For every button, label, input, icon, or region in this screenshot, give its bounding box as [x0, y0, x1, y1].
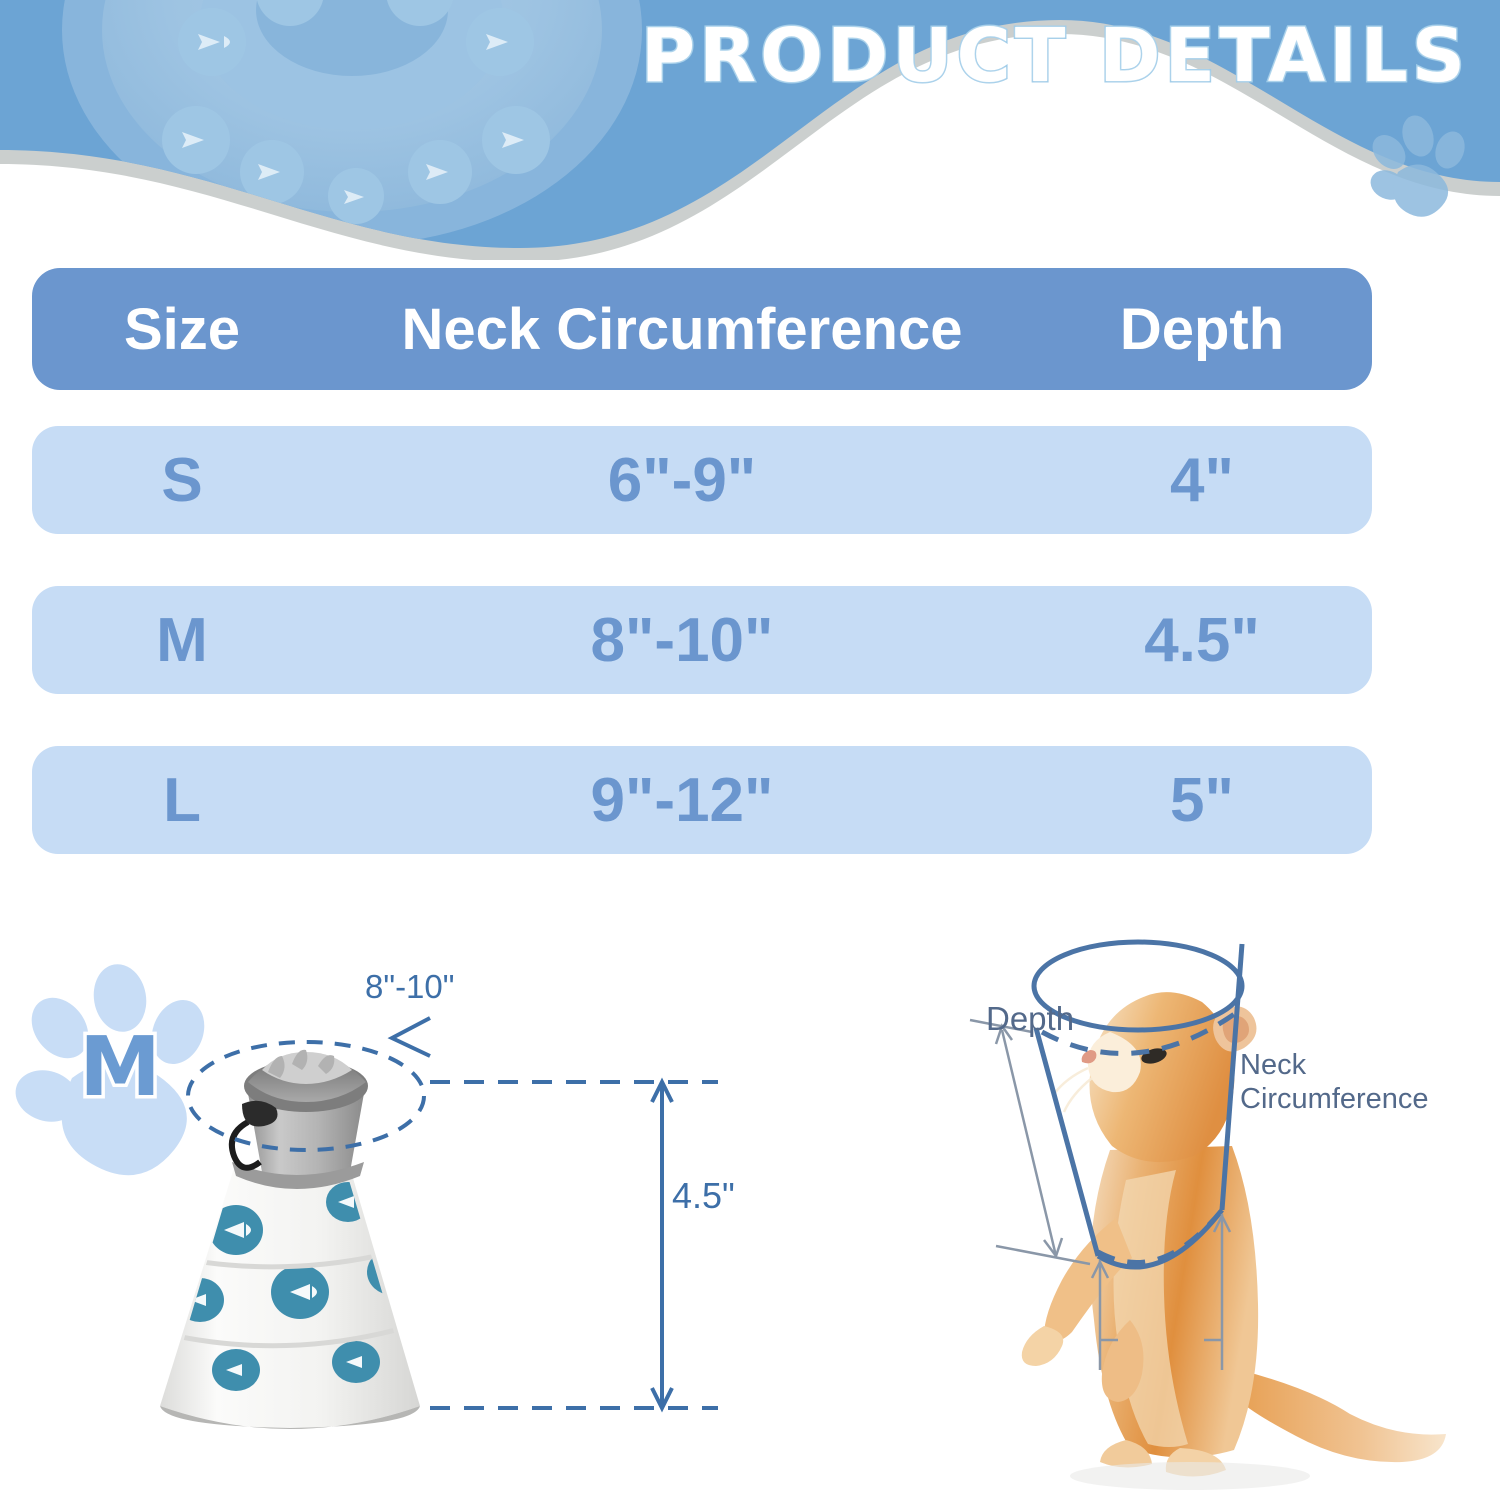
depth-label: Depth: [986, 1000, 1074, 1038]
depth-measure-marks: [970, 1020, 1090, 1264]
cell-depth: 5": [1032, 765, 1372, 836]
header-cell-depth: Depth: [1032, 296, 1372, 363]
cell-size: M: [32, 605, 332, 676]
size-chart-table: Size Neck Circumference Depth S 6"-9" 4"…: [32, 268, 1372, 906]
product-details-banner: PRODUCT DETAILS: [0, 0, 1500, 260]
cat-measurement-diagram: [940, 900, 1500, 1500]
depth-dimension-annotation: [430, 1082, 718, 1408]
header-cell-neck: Neck Circumference: [332, 296, 1032, 363]
neck-circumference-label: Neck Circumference: [1240, 1048, 1429, 1116]
depth-dimension-label: 4.5": [672, 1175, 735, 1217]
cell-depth: 4": [1032, 445, 1372, 516]
cell-neck: 8"-10": [332, 605, 1032, 676]
page-title: PRODUCT DETAILS: [620, 18, 1490, 96]
header-cell-size: Size: [32, 296, 332, 363]
cat-tail: [1234, 1370, 1446, 1462]
cell-size: S: [32, 445, 332, 516]
table-header-row: Size Neck Circumference Depth: [32, 268, 1372, 390]
neck-label-line-1: Neck: [1240, 1049, 1306, 1081]
cell-neck: 9"-12": [332, 765, 1032, 836]
cell-depth: 4.5": [1032, 605, 1372, 676]
table-row: L 9"-12" 5": [32, 746, 1372, 854]
size-badge-letter: M: [79, 1020, 161, 1115]
size-badge-paw-icon: M: [9, 960, 214, 1175]
cell-neck: 6"-9": [332, 445, 1032, 516]
neck-dimension-label: 8"-10": [365, 968, 454, 1006]
cell-size: L: [32, 765, 332, 836]
neck-label-line-2: Circumference: [1240, 1083, 1429, 1115]
table-row: M 8"-10" 4.5": [32, 586, 1372, 694]
table-row: S 6"-9" 4": [32, 426, 1372, 534]
